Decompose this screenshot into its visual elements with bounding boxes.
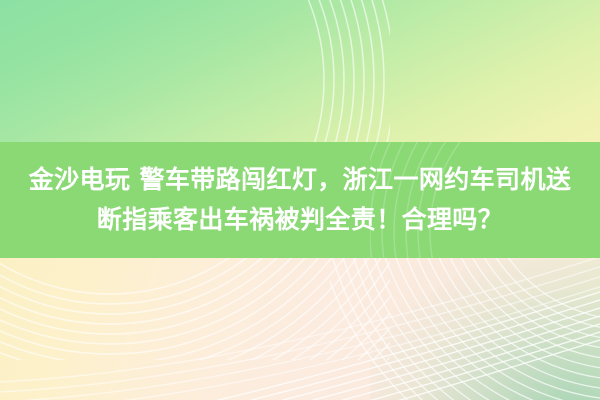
top-gradient-background (0, 0, 600, 142)
title-text-block: 金沙电玩 警车带路闯红灯，浙江一网约车司机送 断指乘客出车祸被判全责！合理吗？ (0, 142, 600, 258)
title-line-2: 断指乘客出车祸被判全责！合理吗？ (97, 200, 503, 240)
title-line-1: 金沙电玩 警车带路闯红灯，浙江一网约车司机送 (29, 160, 572, 200)
bottom-right-teal-accent (370, 260, 600, 400)
bottom-gradient-background (0, 258, 600, 400)
title-card: 金沙电玩 警车带路闯红灯，浙江一网约车司机送 断指乘客出车祸被判全责！合理吗？ (0, 0, 600, 400)
